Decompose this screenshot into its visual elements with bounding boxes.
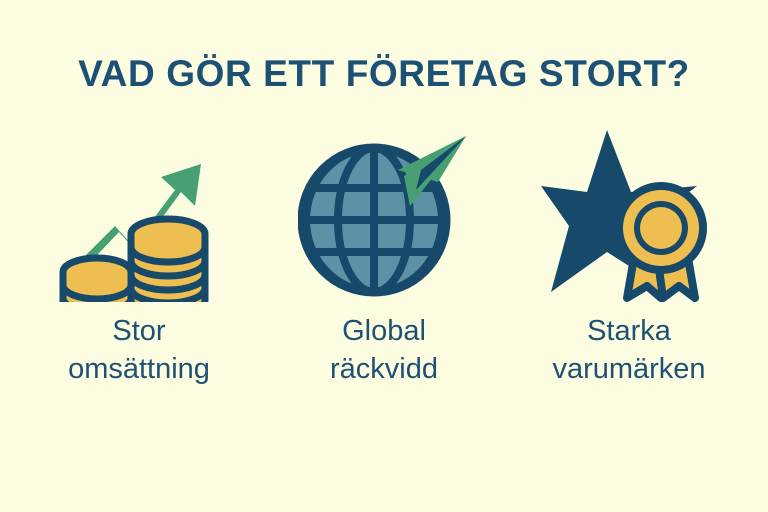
infographic-root: VAD GÖR ETT FÖRETAG STORT? xyxy=(0,0,768,512)
feature-card-label-reach: Global räckvidd xyxy=(330,312,438,389)
feature-card-brands: Starka varumärken xyxy=(513,124,745,389)
feature-card-reach: Global räckvidd xyxy=(268,124,500,389)
star-award-badge-icon xyxy=(529,124,729,302)
feature-card-label-brands: Starka varumärken xyxy=(552,312,705,389)
feature-card-revenue: Stor omsättning xyxy=(23,124,255,389)
globe-paper-plane-icon xyxy=(284,124,484,302)
coins-growth-icon xyxy=(39,124,239,302)
feature-card-list: Stor omsättning xyxy=(23,124,745,389)
feature-card-label-revenue: Stor omsättning xyxy=(68,312,210,389)
page-title: VAD GÖR ETT FÖRETAG STORT? xyxy=(78,55,690,94)
